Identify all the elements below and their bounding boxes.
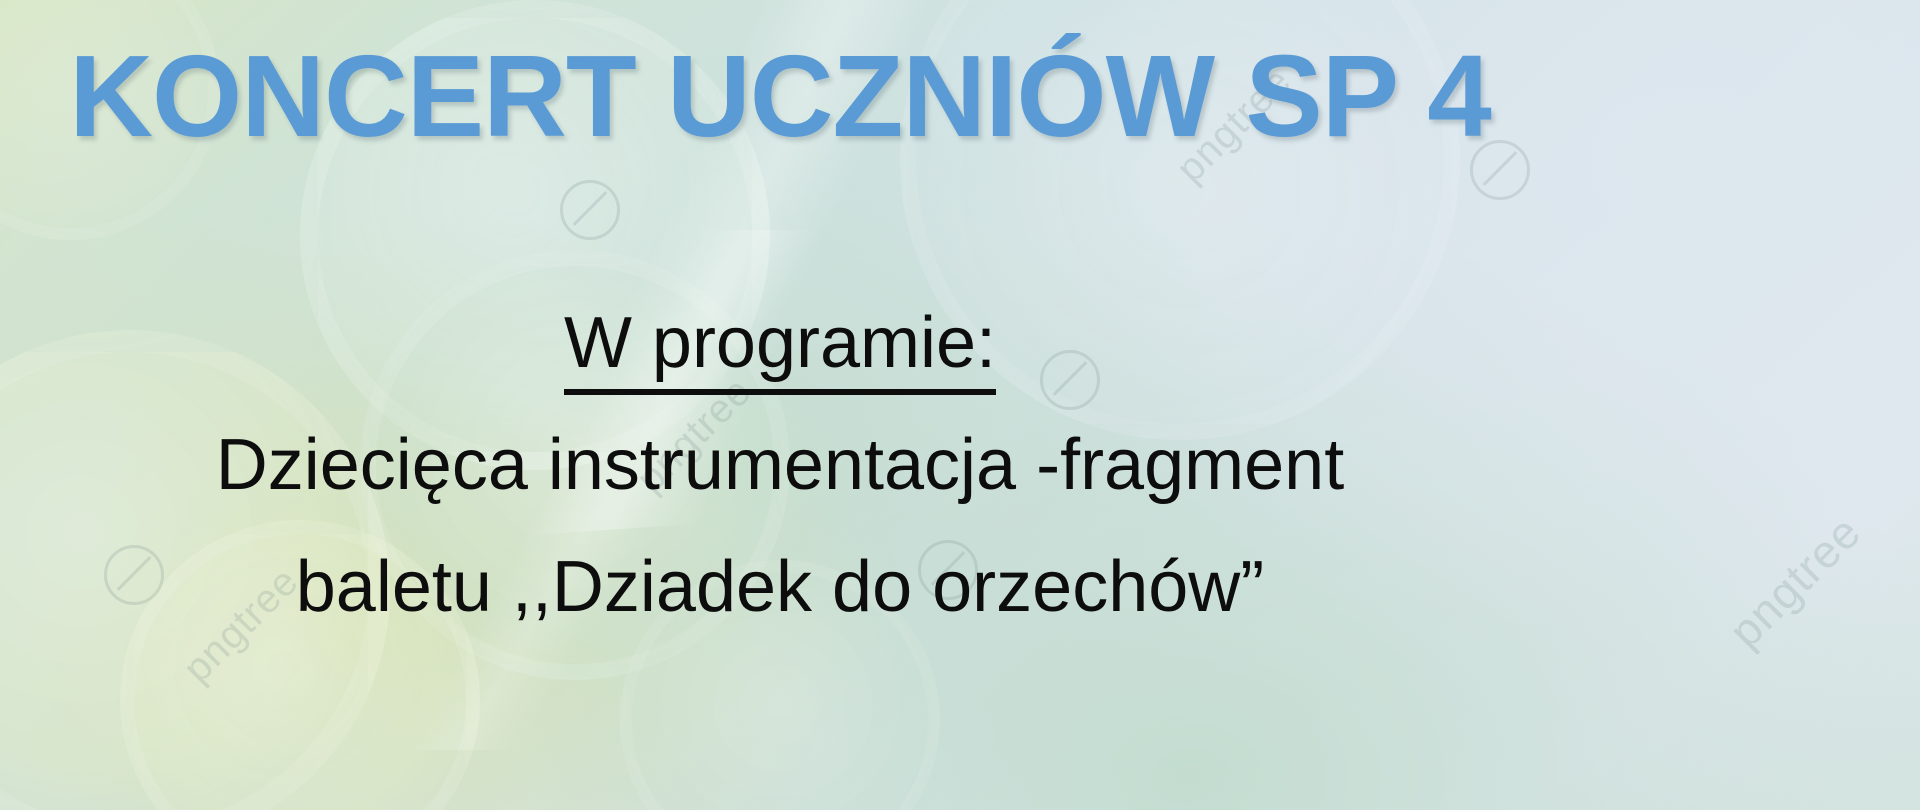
presentation-slide: pngtree pngtree pngtree pngtree KONCERT … <box>0 0 1920 810</box>
program-item-line-2: baletu ,,Dziadek do orzechów” <box>0 546 1560 629</box>
program-heading: W programie: <box>0 302 1560 385</box>
slide-title: KONCERT UCZNIÓW SP 4 <box>0 38 1560 154</box>
program-item-line-1: Dziecięca instrumentacja -fragment <box>0 424 1560 507</box>
slide-content: KONCERT UCZNIÓW SP 4 W programie: Dzieci… <box>0 0 1920 810</box>
program-heading-text: W programie: <box>564 303 996 395</box>
